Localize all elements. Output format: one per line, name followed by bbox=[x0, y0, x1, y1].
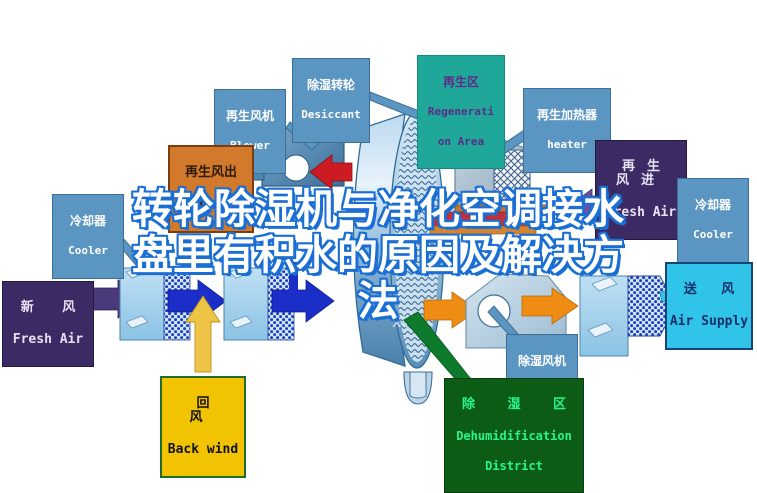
label-regen-area-en2: on Area bbox=[420, 136, 502, 148]
label-desiccant-cn: 除湿转轮 bbox=[295, 79, 367, 92]
label-air-supply-cn: 送 风 bbox=[669, 283, 749, 297]
label-fresh-air-cn: 新 风 bbox=[5, 301, 91, 315]
label-dehum-dist-en2: District bbox=[447, 460, 581, 473]
label-dehum-dist-en1: Dehumidification bbox=[447, 430, 581, 443]
label-regeneration-area: 再生区 Regenerati on Area bbox=[417, 55, 505, 169]
label-back-wind: 回 风 Back wind bbox=[160, 376, 246, 478]
overlay-title-line-1: 转轮除湿机与净化空调接水 bbox=[98, 186, 658, 232]
label-regen-blower-cn: 再生风机 bbox=[217, 110, 283, 123]
label-desiccant-rotor: 除湿转轮 Desiccant bbox=[292, 58, 370, 143]
label-dehum-blower-cn: 除湿风机 bbox=[509, 355, 575, 368]
label-cooler-right-cn: 冷却器 bbox=[680, 199, 746, 212]
label-air-supply-en: Air Supply bbox=[669, 315, 749, 329]
label-dehum-dist-cn: 除 湿 区 bbox=[447, 398, 581, 412]
label-cooler-right-en: Cooler bbox=[680, 229, 746, 241]
label-dehumidification-district: 除 湿 区 Dehumidification District bbox=[444, 378, 584, 493]
label-back-wind-en: Back wind bbox=[164, 443, 242, 457]
label-regen-area-cn: 再生区 bbox=[420, 76, 502, 89]
overlay-title: 转轮除湿机与净化空调接水 盘里有积水的原因及解决方 法 bbox=[98, 186, 658, 324]
label-back-wind-cn: 回 风 bbox=[164, 397, 242, 425]
label-cooler-right: 冷却器 Cooler bbox=[677, 178, 749, 263]
label-desiccant-en: Desiccant bbox=[295, 109, 367, 121]
label-air-supply: 送 风 Air Supply bbox=[665, 262, 753, 350]
overlay-title-line-3: 法 bbox=[98, 278, 658, 324]
drain-pan bbox=[404, 372, 432, 404]
overlay-title-line-2: 盘里有积水的原因及解决方 bbox=[98, 232, 658, 278]
label-heater-cn: 再生加热器 bbox=[526, 109, 608, 122]
diagram-canvas: xt bbox=[0, 0, 757, 488]
label-exhaust-cn: 再生风出 bbox=[172, 166, 250, 180]
label-regen-area-en1: Regenerati bbox=[420, 106, 502, 118]
label-fresh-air-inlet: 新 风 Fresh Air bbox=[2, 281, 94, 367]
label-fresh-air-en: Fresh Air bbox=[5, 333, 91, 347]
